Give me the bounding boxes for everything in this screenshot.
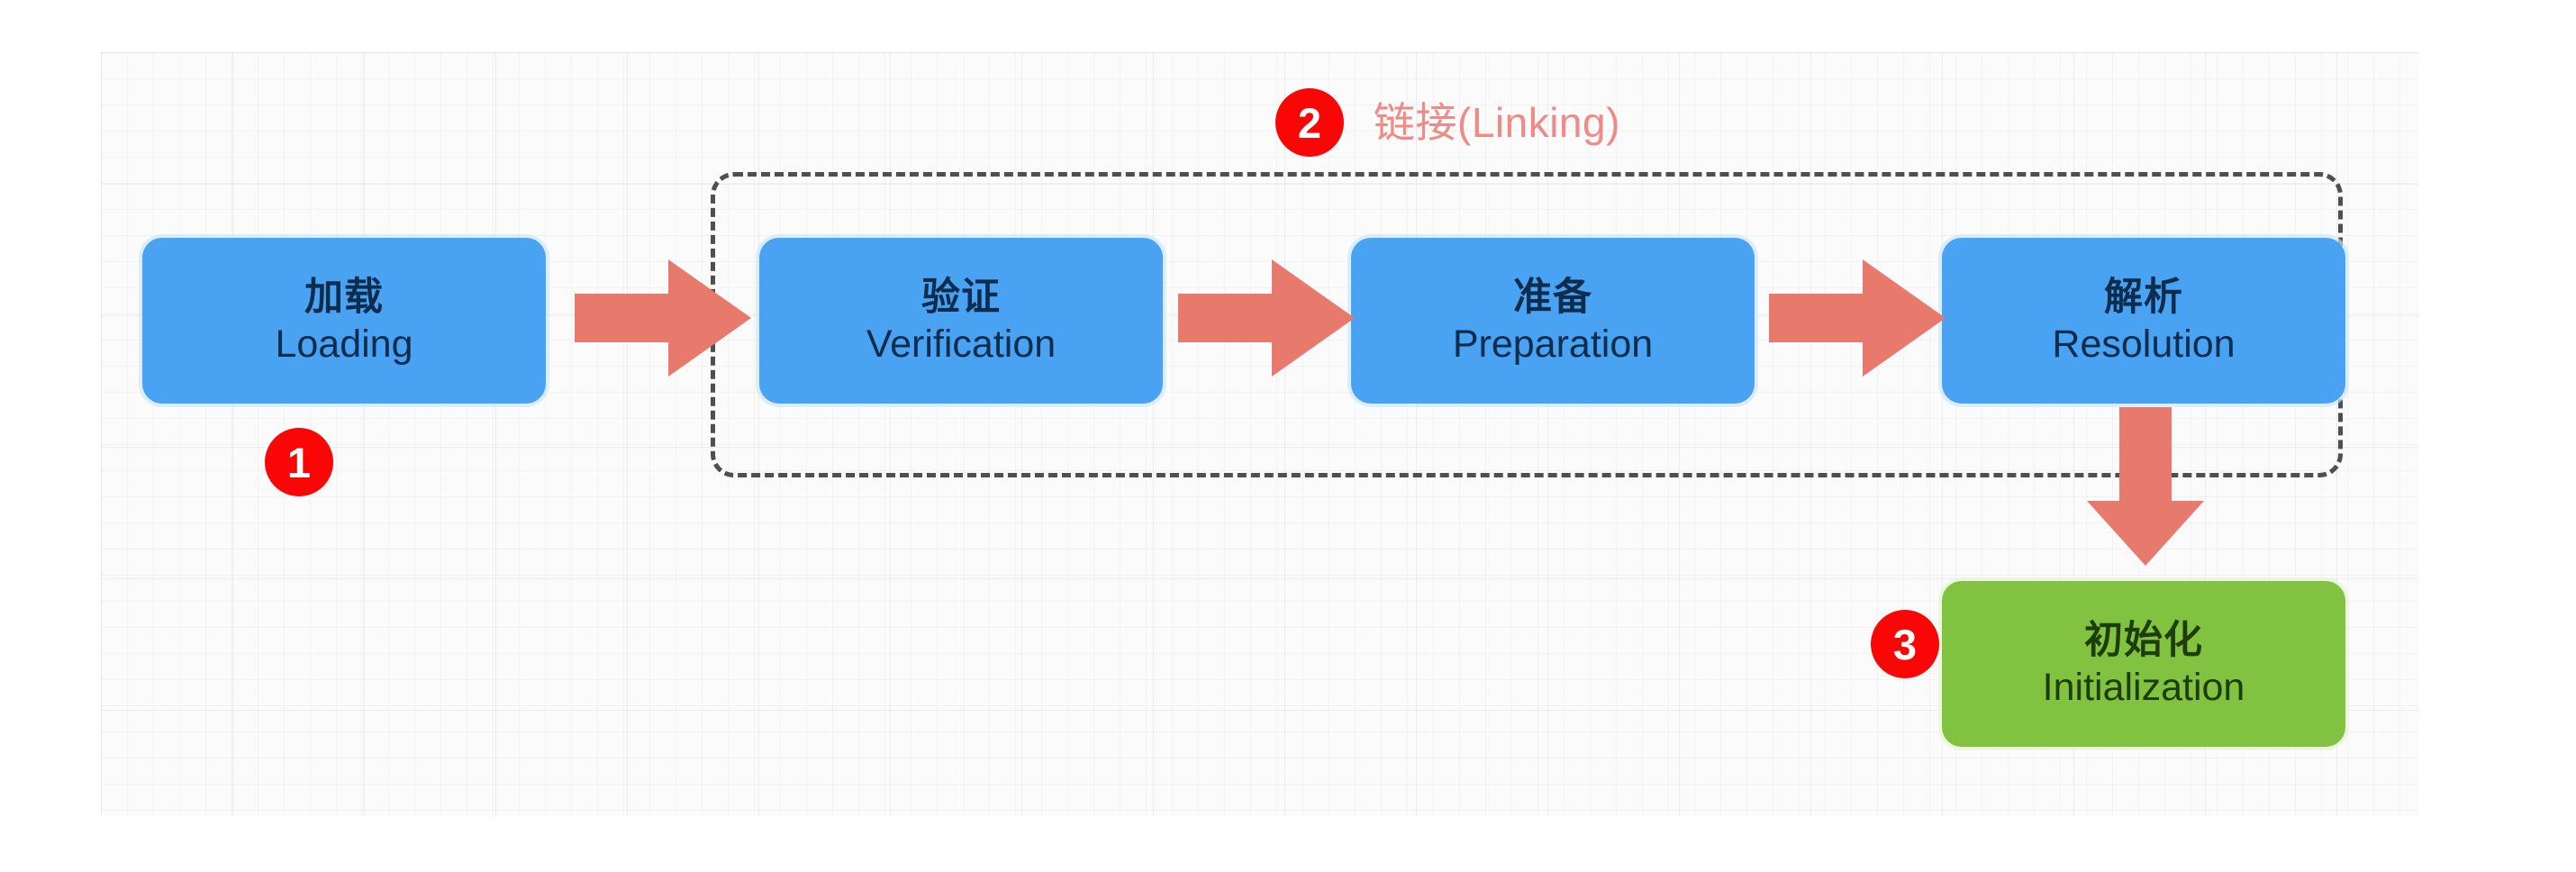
arrow-right-icon-loading-to-verification	[575, 259, 751, 377]
node-initialization-label-en: Initialization	[2043, 666, 2245, 709]
step-badge-3: 3	[1871, 610, 1939, 678]
arrow-down-icon-resolution-to-initialization	[2087, 407, 2204, 566]
node-verification-label-cn: 验证	[921, 276, 1001, 319]
node-loading-label-cn: 加载	[304, 276, 384, 319]
node-loading-label-en: Loading	[275, 322, 413, 366]
node-verification-label-en: Verification	[866, 322, 1056, 366]
step-badge-2: 2	[1275, 88, 1344, 157]
node-resolution-label-en: Resolution	[2052, 322, 2235, 366]
diagram-screenshot: 链接(Linking) 加载 Loading 验证 Verification 准…	[0, 0, 2576, 872]
arrow-right-icon-preparation-to-resolution	[1769, 259, 1946, 377]
node-resolution[interactable]: 解析 Resolution	[1942, 238, 2345, 404]
node-verification[interactable]: 验证 Verification	[759, 238, 1163, 404]
node-resolution-label-cn: 解析	[2104, 276, 2183, 319]
node-loading[interactable]: 加载 Loading	[142, 238, 546, 404]
node-initialization-label-cn: 初始化	[2084, 619, 2203, 662]
linking-group-label: 链接(Linking)	[1374, 90, 1620, 150]
node-preparation[interactable]: 准备 Preparation	[1351, 238, 1755, 404]
arrow-right-icon-verification-to-preparation	[1178, 259, 1355, 377]
step-badge-1: 1	[265, 428, 333, 496]
node-preparation-label-en: Preparation	[1453, 322, 1653, 366]
node-preparation-label-cn: 准备	[1513, 276, 1592, 319]
node-initialization[interactable]: 初始化 Initialization	[1942, 581, 2345, 747]
